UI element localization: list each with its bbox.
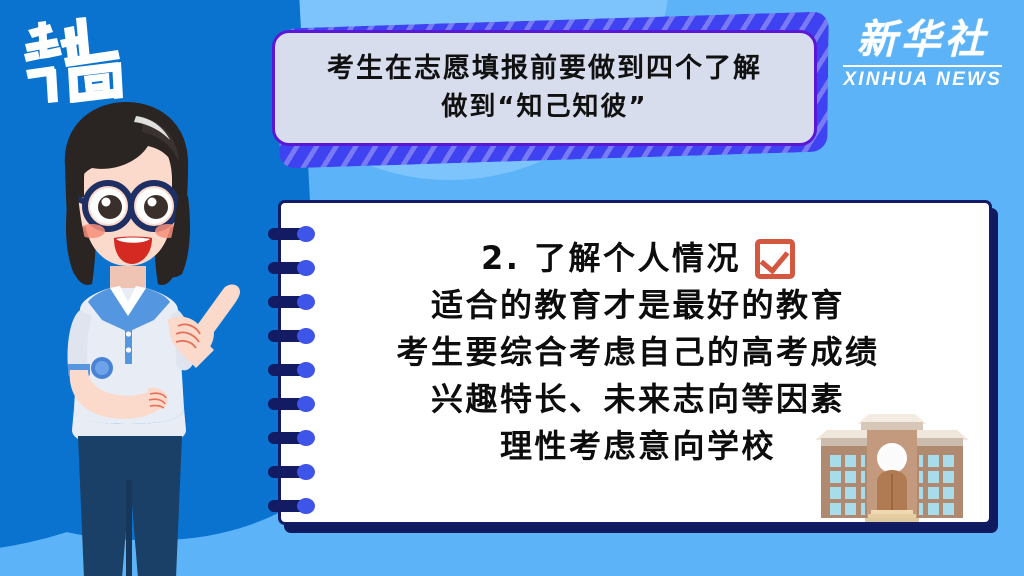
xinhua-logo-divider (843, 65, 1002, 67)
xinhua-news-logo: 新华社 XINHUA NEWS (843, 20, 1002, 89)
spiral-ring (268, 260, 324, 276)
xinhua-logo-cn: 新华社 (843, 20, 1002, 60)
card-line-3: 兴趣特长、未来志向等因素 (431, 376, 845, 423)
title-banner: 考生在志愿填报前要做到四个了解 做到“知己知彼” (272, 16, 832, 164)
title-line-2: 做到“知己知彼” (441, 89, 647, 126)
card-line-1: 适合的教育才是最好的教育 (431, 282, 845, 329)
spiral-ring (268, 362, 324, 378)
card-line-4: 理性考虑意向学校 (500, 423, 776, 470)
spiral-ring (268, 328, 324, 344)
spiral-ring (268, 294, 324, 310)
title-banner-card: 考生在志愿填报前要做到四个了解 做到“知己知彼” (272, 30, 817, 146)
spiral-ring (268, 396, 324, 412)
spiral-ring (268, 226, 324, 242)
xinhua-logo-en: XINHUA NEWS (843, 70, 1002, 89)
content-card: 2. 了解个人情况 适合的教育才是最好的教育 考生要综合考虑自己的高考成绩 兴趣… (278, 200, 992, 525)
title-line-1: 考生在志愿填报前要做到四个了解 (327, 50, 762, 88)
checkmark-icon (760, 243, 790, 274)
kehua-logo-glyph (20, 14, 124, 106)
checkbox-checked-icon[interactable] (755, 239, 795, 279)
card-line-2: 考生要综合考虑自己的高考成绩 (396, 329, 879, 376)
notebook-spiral-rings (268, 210, 328, 520)
spiral-ring (268, 464, 324, 480)
character-illustration (18, 88, 268, 576)
spiral-ring (268, 498, 324, 514)
poster-canvas: 新华社 XINHUA NEWS 考生在志愿填报前要做到四个了解 做到“知己知彼” (0, 0, 1024, 576)
card-heading: 2. 了解个人情况 (481, 235, 741, 282)
card-text-block: 2. 了解个人情况 适合的教育才是最好的教育 考生要综合考虑自己的高考成绩 兴趣… (281, 203, 992, 522)
kehua-logo (20, 14, 124, 106)
card-heading-row: 2. 了解个人情况 (481, 235, 795, 282)
spiral-ring (268, 430, 324, 446)
girl-pointing-icon (18, 88, 268, 576)
